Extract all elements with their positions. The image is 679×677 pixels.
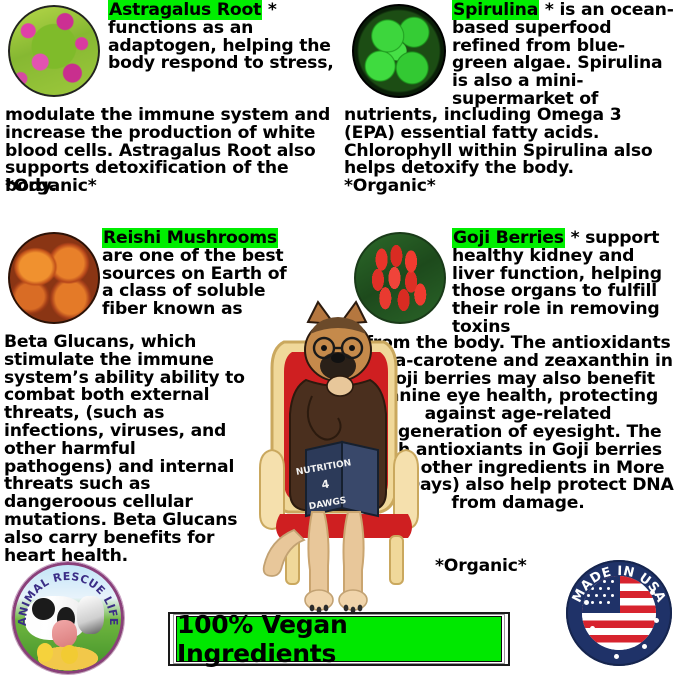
- animal-rescue-life-ring-text: ANIMAL RESCUE LIFE: [12, 562, 124, 674]
- vegan-banner-label: 100% Vegan Ingredients: [177, 610, 501, 668]
- astragalus-lead-text: Astragalus Root * functions as an adapto…: [108, 2, 336, 73]
- made-in-usa-ring-text: MADE IN USA: [566, 560, 672, 666]
- made-in-usa-label: MADE IN USA: [570, 564, 669, 605]
- animal-rescue-life-badge[interactable]: ANIMAL RESCUE LIFE: [12, 562, 124, 674]
- spirulina-organic-note: *Organic*: [344, 178, 435, 196]
- vegan-banner-inner-frame: 100% Vegan Ingredients: [173, 614, 505, 664]
- animal-rescue-life-label: ANIMAL RESCUE LIFE: [16, 570, 120, 626]
- goji-organic-note: *Organic*: [435, 558, 526, 576]
- spirulina-lead-text: Spirulina * is an ocean-based superfood …: [452, 2, 676, 109]
- reishi-body-text: Beta Glucans, which stimulate the immune…: [4, 334, 247, 565]
- goji-lead-body: healthy kidney and liver function, helpi…: [452, 246, 662, 337]
- reishi-mushroom-photo: [8, 232, 100, 324]
- svg-text:MADE IN USA: MADE IN USA: [570, 564, 669, 605]
- ingredient-panel-astragalus: Astragalus Root * functions as an adapto…: [0, 0, 339, 222]
- vegan-banner-green-fill: 100% Vegan Ingredients: [176, 616, 502, 662]
- astragalus-organic-note: *Organic*: [5, 178, 96, 196]
- german-shepherd-reading-book: NUTRITION 4 DAWGS: [250, 300, 440, 620]
- goji-lead-text: Goji Berries * support healthy kidney an…: [452, 230, 678, 337]
- made-in-usa-badge[interactable]: MADE IN USA: [566, 560, 672, 666]
- spirulina-body-text: nutrients, including Omega 3 (EPA) essen…: [344, 107, 678, 178]
- ingredient-panel-spirulina: Spirulina * is an ocean-based superfood …: [340, 0, 679, 222]
- svg-text:ANIMAL RESCUE LIFE: ANIMAL RESCUE LIFE: [16, 570, 120, 626]
- astragalus-lead-suffix: *: [262, 0, 277, 20]
- spirulina-algae-photo: [352, 4, 446, 98]
- astragalus-root-photo: [8, 5, 100, 97]
- astragalus-lead-body: functions as an adaptogen, helping the b…: [108, 18, 334, 74]
- vegan-ingredients-banner[interactable]: 100% Vegan Ingredients: [168, 612, 510, 666]
